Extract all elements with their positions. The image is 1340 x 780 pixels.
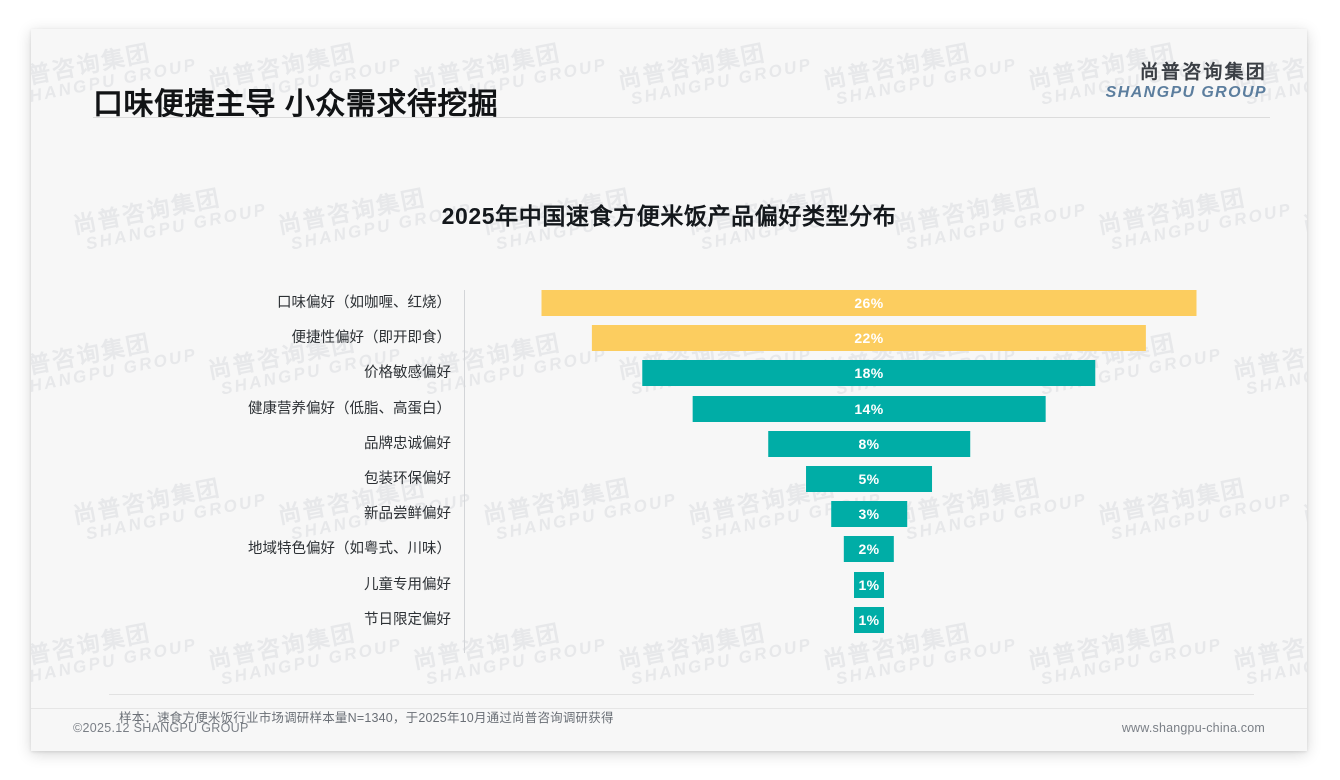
bar-value-label: 5% — [858, 471, 879, 487]
bar-track: 22% — [465, 325, 1273, 351]
slide-header: 口味便捷主导 小众需求待挖掘 尚普咨询集团 SHANGPU GROUP — [31, 29, 1307, 137]
footer-divider — [31, 708, 1307, 709]
bar-value-label: 22% — [854, 330, 883, 346]
bar[interactable]: 1% — [854, 572, 884, 598]
bar[interactable]: 18% — [642, 360, 1095, 386]
bar-track: 8% — [465, 431, 1273, 457]
chart-row: 便捷性偏好（即开即食）22% — [93, 325, 1273, 360]
brand-name-en: SHANGPU GROUP — [1106, 84, 1267, 102]
slide: 尚普咨询集团SHANGPU GROUP尚普咨询集团SHANGPU GROUP尚普… — [31, 29, 1307, 751]
bar-track: 3% — [465, 501, 1273, 527]
bar[interactable]: 1% — [854, 607, 884, 633]
category-label: 包装环保偏好 — [93, 466, 451, 492]
category-label: 便捷性偏好（即开即食） — [93, 325, 451, 351]
chart-row: 健康营养偏好（低脂、高蛋白）14% — [93, 396, 1273, 431]
category-label: 儿童专用偏好 — [93, 572, 451, 598]
category-label: 节日限定偏好 — [93, 607, 451, 633]
bar-value-label: 26% — [854, 295, 883, 311]
watermark-tile: 尚普咨询集团SHANGPU GROUP — [1301, 467, 1307, 546]
bar-track: 14% — [465, 396, 1273, 422]
bar[interactable]: 2% — [844, 536, 894, 562]
bar-value-label: 1% — [858, 577, 879, 593]
category-label: 口味偏好（如咖喱、红烧） — [93, 290, 451, 316]
bar-track: 5% — [465, 466, 1273, 492]
chart-row: 品牌忠诚偏好8% — [93, 431, 1273, 466]
footnote-divider — [109, 694, 1254, 695]
category-label: 新品尝鲜偏好 — [93, 501, 451, 527]
category-label: 健康营养偏好（低脂、高蛋白） — [93, 396, 451, 422]
chart-rows: 口味偏好（如咖喱、红烧）26%便捷性偏好（即开即食）22%价格敏感偏好18%健康… — [93, 290, 1273, 642]
bar-value-label: 2% — [858, 541, 879, 557]
bar-value-label: 3% — [858, 506, 879, 522]
chart-row: 口味偏好（如咖喱、红烧）26% — [93, 290, 1273, 325]
website-link[interactable]: www.shangpu-china.com — [1122, 721, 1265, 735]
bar[interactable]: 26% — [542, 290, 1197, 316]
bar-track: 26% — [465, 290, 1273, 316]
watermark-text-cn: 尚普咨询集团 — [1301, 467, 1307, 528]
bar[interactable]: 14% — [693, 396, 1046, 422]
chart-row: 新品尝鲜偏好3% — [93, 501, 1273, 536]
bar-track: 1% — [465, 572, 1273, 598]
category-label: 品牌忠诚偏好 — [93, 431, 451, 457]
chart-row: 包装环保偏好5% — [93, 466, 1273, 501]
chart-row: 儿童专用偏好1% — [93, 572, 1273, 607]
category-label: 地域特色偏好（如粤式、川味） — [93, 536, 451, 562]
header-divider — [93, 117, 1270, 118]
bar[interactable]: 8% — [768, 431, 970, 457]
bar-value-label: 8% — [858, 436, 879, 452]
bar-track: 18% — [465, 360, 1273, 386]
chart-row: 价格敏感偏好18% — [93, 360, 1273, 395]
chart-row: 节日限定偏好1% — [93, 607, 1273, 642]
copyright-text: ©2025.12 SHANGPU GROUP — [73, 721, 249, 735]
bar-track: 1% — [465, 607, 1273, 633]
chart-row: 地域特色偏好（如粤式、川味）2% — [93, 536, 1273, 571]
bar-value-label: 1% — [858, 612, 879, 628]
bar[interactable]: 22% — [592, 325, 1146, 351]
bar-track: 2% — [465, 536, 1273, 562]
funnel-chart: 口味偏好（如咖喱、红烧）26%便捷性偏好（即开即食）22%价格敏感偏好18%健康… — [93, 272, 1273, 662]
brand-logo: 尚普咨询集团 SHANGPU GROUP — [1106, 62, 1267, 102]
category-label: 价格敏感偏好 — [93, 360, 451, 386]
bar-value-label: 18% — [854, 365, 883, 381]
bar-value-label: 14% — [854, 401, 883, 417]
bar[interactable]: 3% — [831, 501, 907, 527]
bar[interactable]: 5% — [806, 466, 932, 492]
chart-title: 2025年中国速食方便米饭产品偏好类型分布 — [31, 197, 1307, 231]
brand-name-cn: 尚普咨询集团 — [1106, 62, 1267, 83]
